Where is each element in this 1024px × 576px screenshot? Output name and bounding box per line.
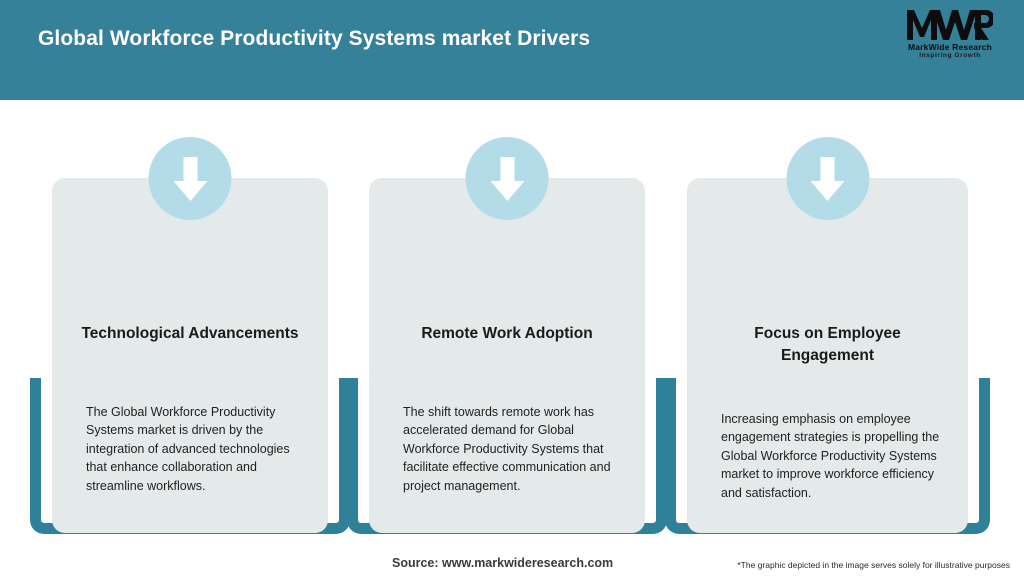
driver-card-1[interactable]: Technological Advancements The Global Wo… [30,100,350,540]
card-title: Technological Advancements [78,323,302,345]
disclaimer-label: *The graphic depicted in the image serve… [737,560,1010,570]
card-surface: Technological Advancements The Global Wo… [52,178,328,533]
card-surface: Remote Work Adoption The shift towards r… [369,178,645,533]
logo-tagline: Inspiring Growth [898,52,1002,60]
source-label: Source: www.markwideresearch.com [392,556,613,570]
card-body-text: The shift towards remote work has accele… [403,403,623,495]
arrow-down-icon [786,137,869,220]
card-title: Focus on Employee Engagement [713,323,942,367]
card-surface: Focus on Employee Engagement Increasing … [687,178,968,533]
markwide-research-logo: MarkWide Research Inspiring Growth [898,8,1002,66]
card-body-text: Increasing emphasis on employee engageme… [721,410,946,502]
mwr-logo-icon [907,8,993,41]
driver-card-2[interactable]: Remote Work Adoption The shift towards r… [347,100,667,540]
arrow-down-icon [466,137,549,220]
drivers-card-list: Technological Advancements The Global Wo… [0,100,1024,540]
arrow-down-icon [149,137,232,220]
arrow-down-glyph [489,155,525,203]
arrow-down-glyph [172,155,208,203]
arrow-down-glyph [810,155,846,203]
header-bar: Global Workforce Productivity Systems ma… [0,0,1024,100]
card-title: Remote Work Adoption [395,323,619,345]
card-body-text: The Global Workforce Productivity System… [86,403,306,495]
driver-card-3[interactable]: Focus on Employee Engagement Increasing … [665,100,990,540]
page-title: Global Workforce Productivity Systems ma… [38,27,590,51]
logo-name: MarkWide Research [898,42,1002,52]
